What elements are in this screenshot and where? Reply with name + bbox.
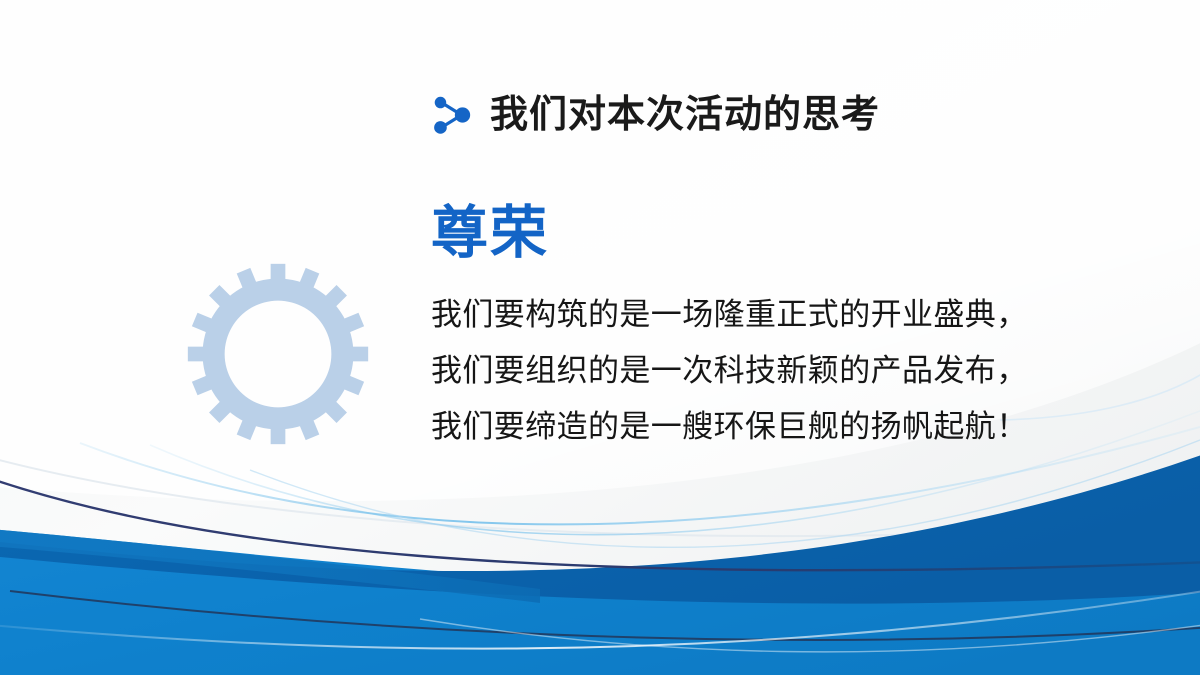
share-nodes-icon [428,92,474,138]
content-line-3: 我们要缔造的是一艘环保巨舰的扬帆起航！ [431,399,1131,455]
content-line-1: 我们要构筑的是一场隆重正式的开业盛典， [431,287,1131,343]
slide-canvas: 我们对本次活动的思考 尊荣 我们要构筑的是一场隆重正式的开业盛典， 我们要组织的… [0,0,1200,675]
slide-title-row: 我们对本次活动的思考 [428,92,880,138]
gear-decoration [186,262,370,446]
content-line-2: 我们要组织的是一次科技新颖的产品发布， [431,343,1131,399]
content-block: 尊荣 我们要构筑的是一场隆重正式的开业盛典， 我们要组织的是一次科技新颖的产品发… [431,203,1131,455]
page-title: 我们对本次活动的思考 [490,96,880,134]
content-headline: 尊荣 [431,203,1131,265]
gear-icon [186,262,370,446]
